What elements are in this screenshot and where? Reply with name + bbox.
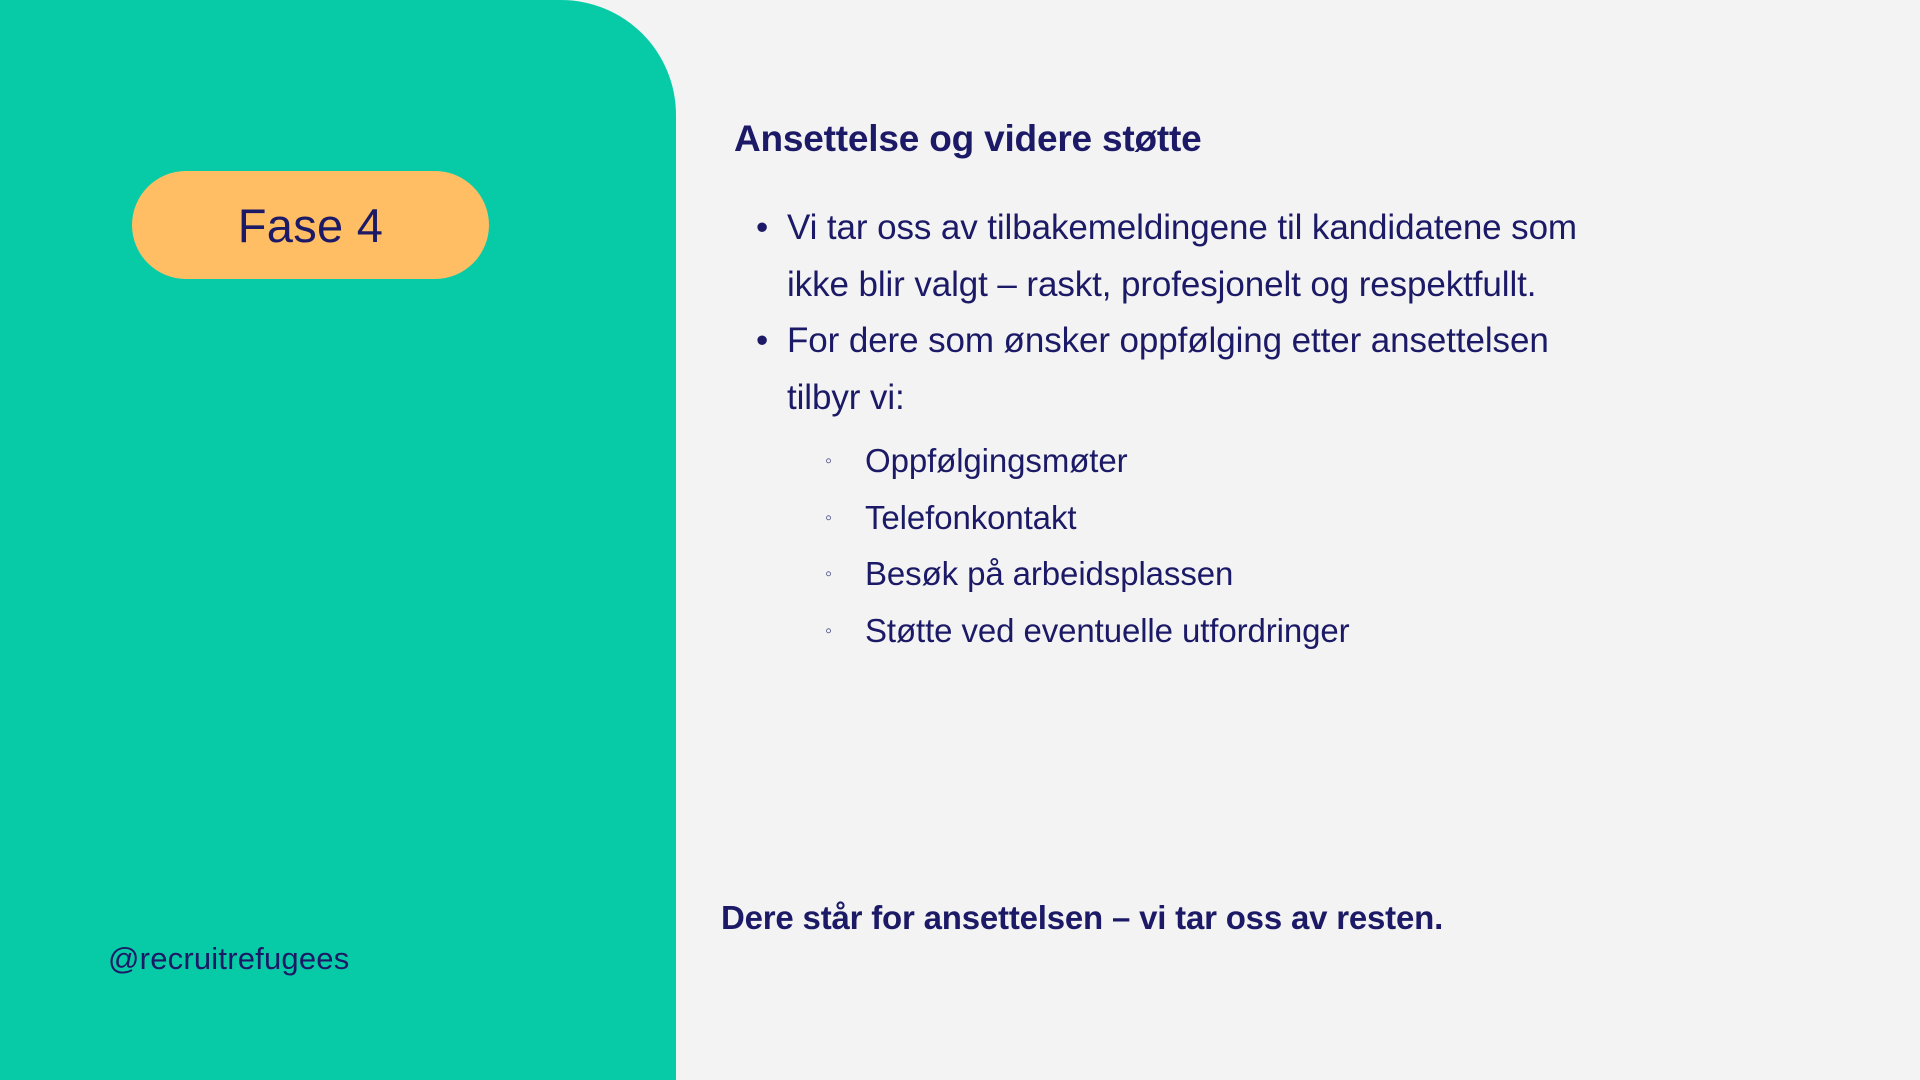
list-item-text: Oppfølgingsmøter <box>865 442 1127 479</box>
left-green-panel: Fase 4 @recruitrefugees <box>0 0 676 1080</box>
list-item: ◦ Oppfølgingsmøter <box>787 433 1856 490</box>
list-item-text: For dere som ønsker oppfølging etter ans… <box>787 313 1617 426</box>
list-item: ◦ Besøk på arbeidsplassen <box>787 546 1856 603</box>
social-handle: @recruitrefugees <box>108 943 349 974</box>
list-item-text: Støtte ved eventuelle utfordringer <box>865 612 1350 649</box>
list-item: • For dere som ønsker oppfølging etter a… <box>676 313 1856 659</box>
list-item-text: Besøk på arbeidsplassen <box>865 555 1233 592</box>
list-item: • Vi tar oss av tilbakemeldingene til ka… <box>676 200 1856 313</box>
list-item: ◦ Støtte ved eventuelle utfordringer <box>787 603 1856 660</box>
content-area: Ansettelse og videre støtte • Vi tar oss… <box>676 0 1920 1080</box>
phase-badge: Fase 4 <box>132 171 489 279</box>
hollow-bullet-marker-icon: ◦ <box>825 433 832 490</box>
phase-badge-label: Fase 4 <box>238 202 384 249</box>
closing-statement: Dere står for ansettelsen – vi tar oss a… <box>721 898 1443 938</box>
hollow-bullet-marker-icon: ◦ <box>825 603 832 660</box>
list-item-text: Telefonkontakt <box>865 499 1076 536</box>
hollow-bullet-marker-icon: ◦ <box>825 490 832 547</box>
bullet-list: • Vi tar oss av tilbakemeldingene til ka… <box>676 200 1856 660</box>
content-heading: Ansettelse og videre støtte <box>734 120 1202 157</box>
sub-bullet-list: ◦ Oppfølgingsmøter ◦ Telefonkontakt ◦ Be… <box>787 427 1856 660</box>
hollow-bullet-marker-icon: ◦ <box>825 546 832 603</box>
bullet-marker-icon: • <box>756 200 776 257</box>
list-item: ◦ Telefonkontakt <box>787 490 1856 547</box>
slide-canvas: Fase 4 @recruitrefugees Ansettelse og vi… <box>0 0 1920 1080</box>
list-item-text: Vi tar oss av tilbakemeldingene til kand… <box>787 200 1617 313</box>
bullet-marker-icon: • <box>756 313 776 370</box>
